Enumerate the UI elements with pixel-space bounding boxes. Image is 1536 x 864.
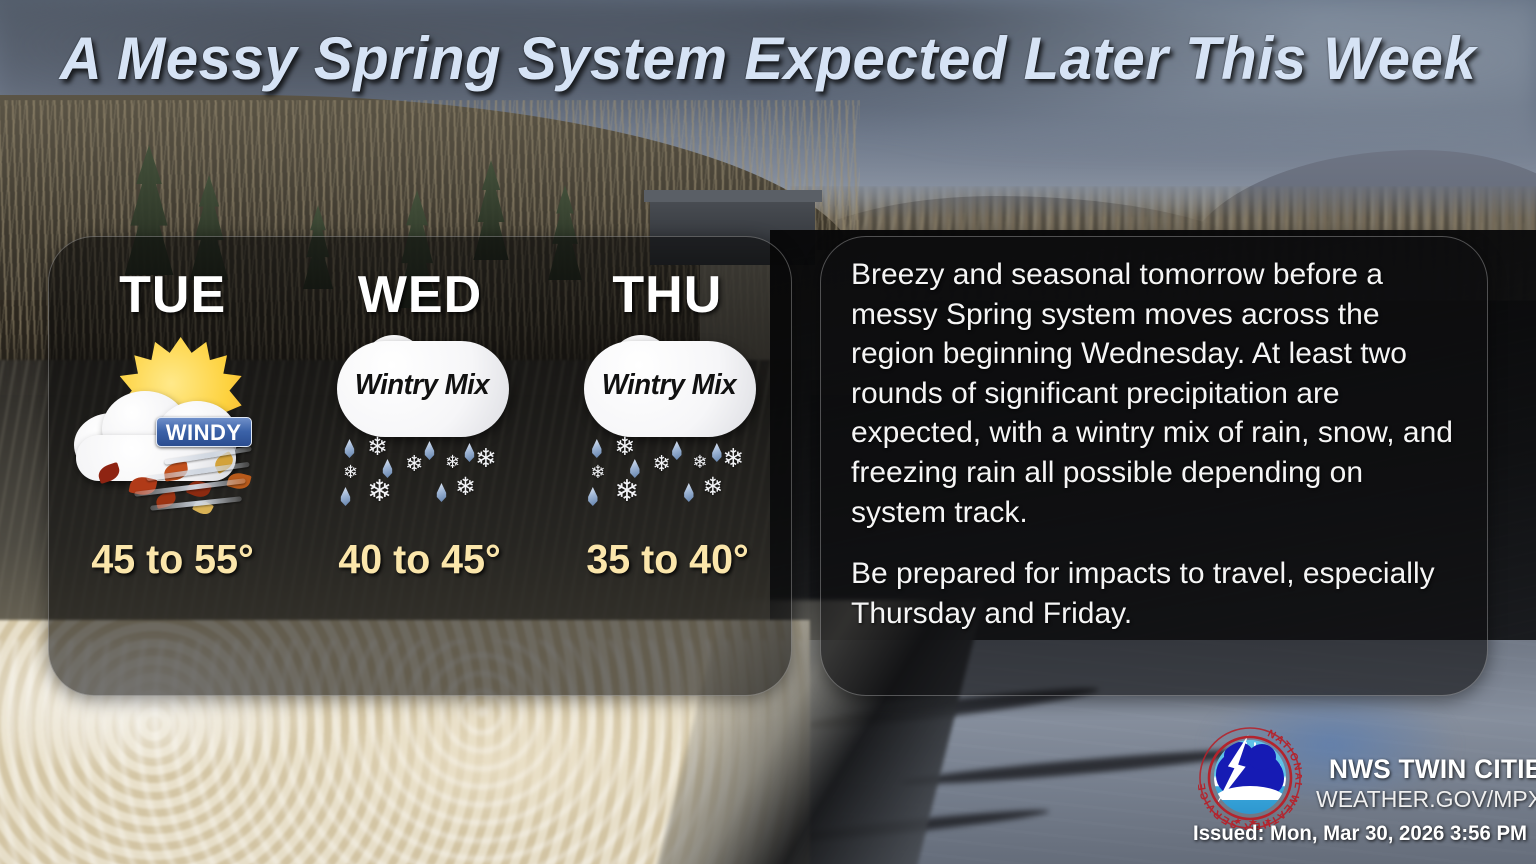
footer: NATIONAL WEATHER SERVICE ★ ★ ★ NWS TWIN … <box>1188 726 1524 848</box>
snowflake: ❄ <box>652 453 670 475</box>
snowflake: ❄ <box>445 453 460 471</box>
snowflake: ❄ <box>702 475 723 500</box>
day-label-thu: THU <box>612 265 722 325</box>
weather-graphic: A Messy Spring System Expected Later Thi… <box>0 0 1536 864</box>
forecast-column-thu: THU Wintry Mix ❄ ❄ ❄ ❄ ❄ <box>544 237 791 695</box>
wintry-mix-icon: Wintry Mix ❄ ❄ ❄ ❄ ❄ ❄ ❄ <box>562 335 772 520</box>
raindrop <box>670 441 683 460</box>
discussion-text: Breezy and seasonal tomorrow before a me… <box>851 255 1459 633</box>
snowflake: ❄ <box>614 435 635 460</box>
raindrop <box>339 487 352 506</box>
wintry-mix-label: Wintry Mix <box>320 369 523 402</box>
discussion-paragraph-1: Breezy and seasonal tomorrow before a me… <box>851 255 1459 532</box>
snowflake: ❄ <box>367 435 388 460</box>
raindrop <box>682 483 695 502</box>
forecast-column-wed: WED Wintry Mix ❄ ❄ ❄ ❄ ❄ <box>296 237 543 695</box>
snowflake: ❄ <box>343 463 358 481</box>
wintry-mix-icon: Wintry Mix ❄ ❄ ❄ ❄ ❄ ❄ ❄ <box>315 335 525 520</box>
snowflake: ❄ <box>614 477 639 507</box>
snowflake: ❄ <box>367 477 392 507</box>
raindrop <box>435 483 448 502</box>
headline-title: A Messy Spring System Expected Later Thi… <box>23 24 1513 93</box>
raindrop <box>343 439 356 458</box>
raindrop <box>423 441 436 460</box>
logo-ring-text: NATIONAL WEATHER SERVICE <box>1198 726 1302 830</box>
day-label-wed: WED <box>358 265 482 325</box>
agency-name: NWS TWIN CITIES <box>1329 754 1523 785</box>
discussion-panel: Breezy and seasonal tomorrow before a me… <box>820 236 1488 696</box>
temperature-thu: 35 to 40° <box>586 536 748 583</box>
forecast-panel: TUE <box>48 236 792 696</box>
issued-timestamp: Issued: Mon, Mar 30, 2026 3:56 PM <box>1193 822 1519 846</box>
snowflake: ❄ <box>590 463 605 481</box>
snowflake: ❄ <box>405 453 423 475</box>
snowflake: ❄ <box>455 475 476 500</box>
temperature-wed: 40 to 45° <box>339 536 501 583</box>
sun-behind-cloud-windy-icon: WINDY <box>68 335 278 520</box>
windy-badge: WINDY <box>156 417 252 447</box>
raindrop <box>586 487 599 506</box>
website-url: WEATHER.GOV/MPX <box>1316 786 1526 813</box>
snowflake: ❄ <box>722 445 744 471</box>
nws-seal-logo: NATIONAL WEATHER SERVICE ★ ★ ★ <box>1198 726 1302 830</box>
forecast-column-tue: TUE <box>49 237 296 695</box>
snowflake: ❄ <box>692 453 707 471</box>
temperature-tue: 45 to 55° <box>91 536 253 583</box>
discussion-paragraph-2: Be prepared for impacts to travel, espec… <box>851 554 1459 633</box>
snowflake: ❄ <box>475 445 497 471</box>
wintry-mix-label: Wintry Mix <box>568 369 771 402</box>
raindrop <box>590 439 603 458</box>
day-label-tue: TUE <box>119 265 226 325</box>
